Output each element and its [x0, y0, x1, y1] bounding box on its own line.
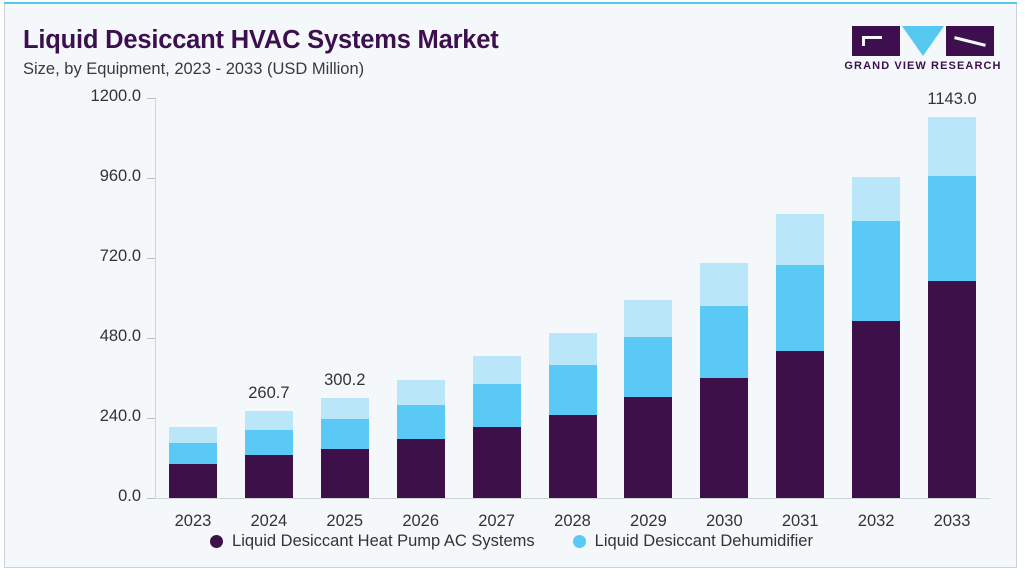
y-axis-tick-label: 720.0 — [100, 247, 141, 266]
brand-logo: GRAND VIEW RESEARCH — [844, 26, 1002, 78]
x-axis-tick-label: 2031 — [782, 512, 819, 531]
bar-group[interactable]: 260.72024 — [245, 98, 293, 498]
logo-wordmark: GRAND VIEW RESEARCH — [844, 60, 1002, 72]
y-axis-tick-label: 240.0 — [100, 407, 141, 426]
bar-segment — [700, 263, 748, 306]
bar-group[interactable]: 300.22025 — [321, 98, 369, 498]
bar-group[interactable]: 2023 — [169, 98, 217, 498]
chart-legend: Liquid Desiccant Heat Pump AC SystemsLiq… — [5, 532, 1017, 551]
legend-label: Liquid Desiccant Dehumidifier — [595, 532, 813, 551]
bar-segment — [624, 300, 672, 338]
x-axis-tick-label: 2029 — [630, 512, 667, 531]
bar-segment — [397, 380, 445, 404]
x-axis-tick-label: 2023 — [175, 512, 212, 531]
y-axis-tick-mark — [147, 418, 155, 419]
y-axis-tick: 720.0 — [5, 258, 155, 259]
bar-stack — [245, 411, 293, 498]
bar-group[interactable]: 2028 — [549, 98, 597, 498]
y-axis-tick-mark — [147, 258, 155, 259]
bar-stack — [700, 263, 748, 498]
x-axis-tick-label: 2030 — [706, 512, 743, 531]
y-axis-tick-mark — [147, 98, 155, 99]
y-axis-tick-label: 480.0 — [100, 327, 141, 346]
bar-group[interactable]: 2029 — [624, 98, 672, 498]
y-axis-tick: 960.0 — [5, 178, 155, 179]
bar-value-label: 260.7 — [248, 384, 289, 403]
bar-group[interactable]: 2026 — [397, 98, 445, 498]
bar-segment — [852, 321, 900, 498]
plot-area: 2023260.72024300.22025202620272028202920… — [155, 98, 990, 498]
bar-segment — [397, 405, 445, 440]
bar-segment — [473, 427, 521, 498]
bar-group[interactable]: 2031 — [776, 98, 824, 498]
x-axis-tick-label: 2026 — [402, 512, 439, 531]
bar-segment — [169, 427, 217, 443]
bar-segment — [928, 117, 976, 176]
y-axis-tick: 240.0 — [5, 418, 155, 419]
bar-segment — [928, 281, 976, 498]
bar-segment — [776, 351, 824, 498]
page-subtitle: Size, by Equipment, 2023 - 2033 (USD Mil… — [23, 60, 364, 79]
bar-group[interactable]: 1143.02033 — [928, 98, 976, 498]
legend-item[interactable]: Liquid Desiccant Heat Pump AC Systems — [210, 532, 535, 551]
legend-label: Liquid Desiccant Heat Pump AC Systems — [232, 532, 535, 551]
y-axis-tick-mark — [147, 338, 155, 339]
legend-color-swatch-icon — [573, 535, 586, 548]
bar-stack — [852, 177, 900, 498]
bar-segment — [321, 449, 369, 498]
bar-stack — [473, 356, 521, 498]
bar-segment — [700, 378, 748, 498]
legend-color-swatch-icon — [210, 535, 223, 548]
bar-stack — [397, 380, 445, 498]
x-axis-tick-label: 2027 — [478, 512, 515, 531]
bar-segment — [624, 397, 672, 498]
bar-segment — [852, 221, 900, 321]
legend-item[interactable]: Liquid Desiccant Dehumidifier — [573, 532, 813, 551]
bar-stack — [776, 214, 824, 498]
x-axis-tick-label: 2032 — [858, 512, 895, 531]
bar-segment — [549, 415, 597, 498]
y-axis-tick-mark — [147, 178, 155, 179]
logo-triangle-icon — [902, 26, 944, 56]
y-axis-tick: 480.0 — [5, 338, 155, 339]
bar-segment — [321, 398, 369, 419]
bar-value-label: 1143.0 — [927, 90, 976, 109]
y-axis-tick: 1200.0 — [5, 98, 155, 99]
logo-g-block-icon — [852, 26, 900, 56]
bar-segment — [321, 419, 369, 448]
bar-stack — [321, 398, 369, 498]
bar-chart: Market Size (USD Million) 0.0240.0480.07… — [5, 92, 1017, 568]
y-axis-tick-label: 0.0 — [118, 487, 141, 506]
bar-segment — [245, 430, 293, 455]
bar-segment — [549, 333, 597, 365]
y-axis-tick-label: 960.0 — [100, 167, 141, 186]
bar-segment — [245, 455, 293, 498]
chart-card: Liquid Desiccant HVAC Systems Market Siz… — [4, 4, 1017, 568]
x-axis-tick-label: 2028 — [554, 512, 591, 531]
y-axis-tick-mark — [147, 498, 155, 499]
bar-segment — [852, 177, 900, 221]
bar-segment — [169, 464, 217, 498]
y-axis-tick-label: 1200.0 — [91, 87, 141, 106]
bar-stack — [169, 427, 217, 498]
bar-segment — [776, 214, 824, 266]
x-axis-tick-label: 2025 — [326, 512, 363, 531]
bar-segment — [473, 384, 521, 427]
y-axis-tick: 0.0 — [5, 498, 155, 499]
bar-segment — [169, 443, 217, 463]
bar-group[interactable]: 2030 — [700, 98, 748, 498]
bar-group[interactable]: 2032 — [852, 98, 900, 498]
bar-segment — [624, 337, 672, 397]
bar-stack — [549, 333, 597, 498]
bar-segment — [245, 411, 293, 430]
x-axis-tick-label: 2033 — [934, 512, 971, 531]
bar-stack — [624, 300, 672, 498]
logo-marks — [844, 26, 1002, 56]
bar-stack — [928, 117, 976, 498]
x-axis-line — [155, 498, 991, 499]
bar-group[interactable]: 2027 — [473, 98, 521, 498]
bar-segment — [473, 356, 521, 385]
bar-segment — [700, 306, 748, 378]
bar-segment — [397, 439, 445, 498]
bar-value-label: 300.2 — [324, 371, 365, 390]
chart-header: Liquid Desiccant HVAC Systems Market Siz… — [5, 4, 1017, 92]
bar-segment — [776, 265, 824, 351]
logo-r-block-icon — [946, 26, 994, 56]
page-title: Liquid Desiccant HVAC Systems Market — [23, 26, 499, 55]
bar-segment — [928, 176, 976, 281]
x-axis-tick-label: 2024 — [251, 512, 288, 531]
bar-segment — [549, 365, 597, 415]
